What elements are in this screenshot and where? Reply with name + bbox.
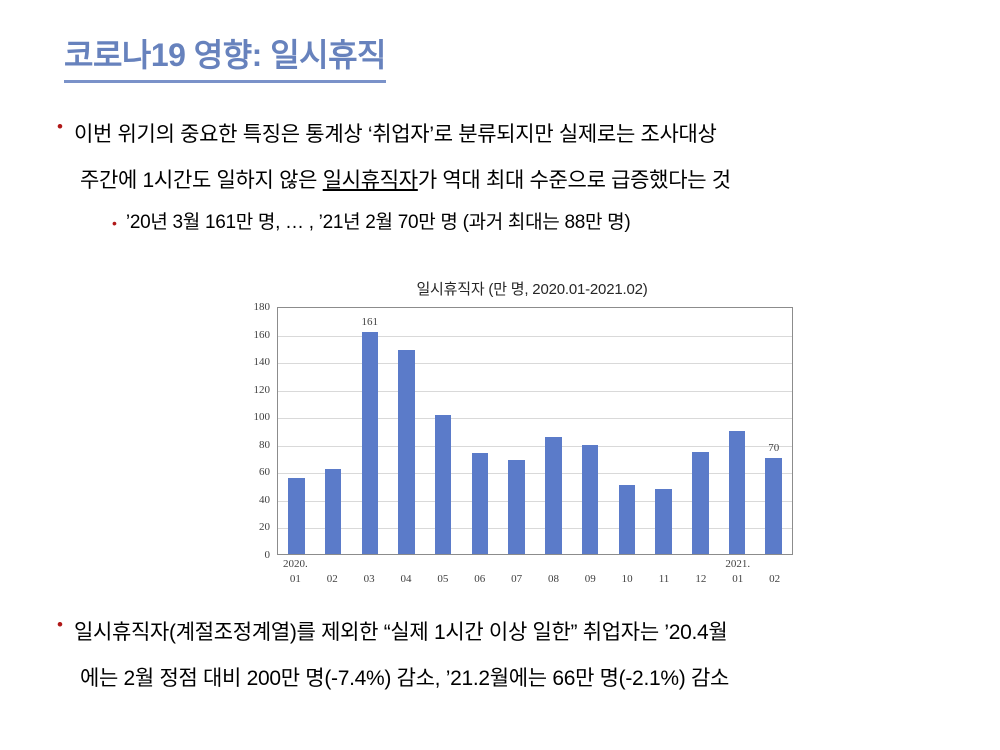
bar-slot [388, 308, 425, 554]
x-axis-tick: 12 [682, 557, 719, 587]
x-axis-month-label: 08 [535, 572, 572, 587]
chart-bar [362, 332, 379, 554]
x-axis-month-label: 06 [461, 572, 498, 587]
x-axis-tick: 09 [572, 557, 609, 587]
bullet-2-line-2: 에는 2월 정점 대비 200만 명(-7.4%) 감소, ’21.2월에는 6… [74, 656, 729, 702]
bar-slot [682, 308, 719, 554]
bar-slot [498, 308, 535, 554]
y-axis-tick: 180 [254, 301, 271, 313]
x-axis-tick: 06 [461, 557, 498, 587]
x-axis-month-label: 01 [277, 572, 314, 587]
x-axis-year-label [609, 557, 646, 572]
x-axis-month-label: 12 [682, 572, 719, 587]
chart-bar [508, 460, 525, 554]
x-axis-year-label [498, 557, 535, 572]
sub-bullet-text: ’20년 3월 161만 명, … , ’21년 2월 70만 명 (과거 최대… [126, 208, 630, 238]
x-axis-tick: 02 [756, 557, 793, 587]
chart-bar [545, 437, 562, 554]
y-axis-tick: 60 [259, 466, 270, 478]
x-axis-year-label: 2021. [719, 557, 756, 572]
bullet-marker-icon: • [57, 112, 63, 142]
x-axis-month-label: 03 [351, 572, 388, 587]
chart-x-axis: 2020.0102030405060708091011122021.0102 [277, 557, 793, 587]
x-axis-year-label [314, 557, 351, 572]
chart-title: 일시휴직자 (만 명, 2020.01-2021.02) [245, 278, 793, 299]
x-axis-year-label [461, 557, 498, 572]
x-axis-tick: 2021.01 [719, 557, 756, 587]
chart-bar [619, 485, 636, 554]
bullet-1-line-2: 주간에 1시간도 일하지 않은 일시휴직자가 역대 최대 수준으로 급증했다는 … [74, 158, 731, 204]
bar-slot [425, 308, 462, 554]
x-axis-year-label [424, 557, 461, 572]
bullet-1-emphasis: 일시휴직자 [323, 169, 418, 192]
chart-bar [288, 478, 305, 554]
x-axis-tick: 10 [609, 557, 646, 587]
chart-bar [582, 445, 599, 554]
page-title: 코로나19 영향: 일시휴직 [64, 30, 386, 83]
bullet-item-2: • 일시휴직자(계절조정계열)를 제외한 “실제 1시간 이상 일한” 취업자는… [57, 610, 729, 702]
x-axis-month-label: 07 [498, 572, 535, 587]
sub-bullet-item: • ’20년 3월 161만 명, … , ’21년 2월 70만 명 (과거 … [112, 208, 630, 238]
chart-plot-container: 180160140120100806040200 16170 2020.0102… [245, 307, 793, 595]
x-axis-year-label [388, 557, 425, 572]
bar-slot [462, 308, 499, 554]
y-axis-tick: 0 [265, 549, 271, 561]
bullet-1-line-2-post: 가 역대 최대 수준으로 급증했다는 것 [418, 169, 731, 192]
bar-value-label: 70 [768, 442, 779, 454]
bar-value-label: 161 [362, 316, 379, 328]
x-axis-tick: 07 [498, 557, 535, 587]
chart-bar [472, 453, 489, 554]
x-axis-year-label [756, 557, 793, 572]
chart-bars: 16170 [278, 308, 792, 554]
bullet-item-1: • 이번 위기의 중요한 특징은 통계상 ‘취업자’로 분류되지만 실제로는 조… [57, 112, 731, 204]
x-axis-tick: 04 [388, 557, 425, 587]
bar-slot [278, 308, 315, 554]
x-axis-tick: 2020.01 [277, 557, 314, 587]
bullet-1-line-2-pre: 주간에 1시간도 일하지 않은 [80, 169, 323, 192]
bar-slot [719, 308, 756, 554]
chart-bar [398, 350, 415, 554]
bar-slot: 161 [351, 308, 388, 554]
x-axis-month-label: 11 [646, 572, 683, 587]
bullet-1-text: 이번 위기의 중요한 특징은 통계상 ‘취업자’로 분류되지만 실제로는 조사대… [74, 112, 731, 204]
chart-bar [435, 415, 452, 554]
chart-bar [692, 452, 709, 554]
bullet-2-text: 일시휴직자(계절조정계열)를 제외한 “실제 1시간 이상 일한” 취업자는 ’… [74, 610, 729, 702]
x-axis-year-label [682, 557, 719, 572]
y-axis-tick: 40 [259, 494, 270, 506]
y-axis-tick: 20 [259, 521, 270, 533]
x-axis-tick: 05 [424, 557, 461, 587]
y-axis-tick: 80 [259, 439, 270, 451]
chart-bar [655, 489, 672, 554]
x-axis-tick: 02 [314, 557, 351, 587]
bar-slot: 70 [755, 308, 792, 554]
x-axis-tick: 03 [351, 557, 388, 587]
bar-slot [535, 308, 572, 554]
x-axis-month-label: 04 [388, 572, 425, 587]
x-axis-month-label: 05 [424, 572, 461, 587]
bullet-marker-icon: • [57, 610, 63, 640]
x-axis-year-label [535, 557, 572, 572]
x-axis-month-label: 10 [609, 572, 646, 587]
chart-bar [765, 458, 782, 554]
bar-slot [608, 308, 645, 554]
bar-slot [645, 308, 682, 554]
bullet-2-line-1: 일시휴직자(계절조정계열)를 제외한 “실제 1시간 이상 일한” 취업자는 ’… [74, 621, 728, 644]
x-axis-year-label [572, 557, 609, 572]
y-axis-tick: 120 [254, 384, 271, 396]
x-axis-month-label: 09 [572, 572, 609, 587]
chart-bar [325, 469, 342, 554]
x-axis-year-label [351, 557, 388, 572]
bar-slot [315, 308, 352, 554]
y-axis-tick: 160 [254, 329, 271, 341]
y-axis-tick: 100 [254, 411, 271, 423]
sub-bullet-marker-icon: • [112, 208, 117, 238]
x-axis-month-label: 01 [719, 572, 756, 587]
bullet-1-line-1: 이번 위기의 중요한 특징은 통계상 ‘취업자’로 분류되지만 실제로는 조사대… [74, 123, 717, 146]
x-axis-tick: 11 [646, 557, 683, 587]
x-axis-tick: 08 [535, 557, 572, 587]
bar-slot [572, 308, 609, 554]
x-axis-year-label: 2020. [277, 557, 314, 572]
chart-bar [729, 431, 746, 554]
x-axis-month-label: 02 [314, 572, 351, 587]
chart-y-axis: 180160140120100806040200 [245, 307, 275, 555]
y-axis-tick: 140 [254, 356, 271, 368]
x-axis-month-label: 02 [756, 572, 793, 587]
x-axis-year-label [646, 557, 683, 572]
chart-plot-area: 16170 [277, 307, 793, 555]
chart-figure: 일시휴직자 (만 명, 2020.01-2021.02) 18016014012… [245, 278, 793, 608]
